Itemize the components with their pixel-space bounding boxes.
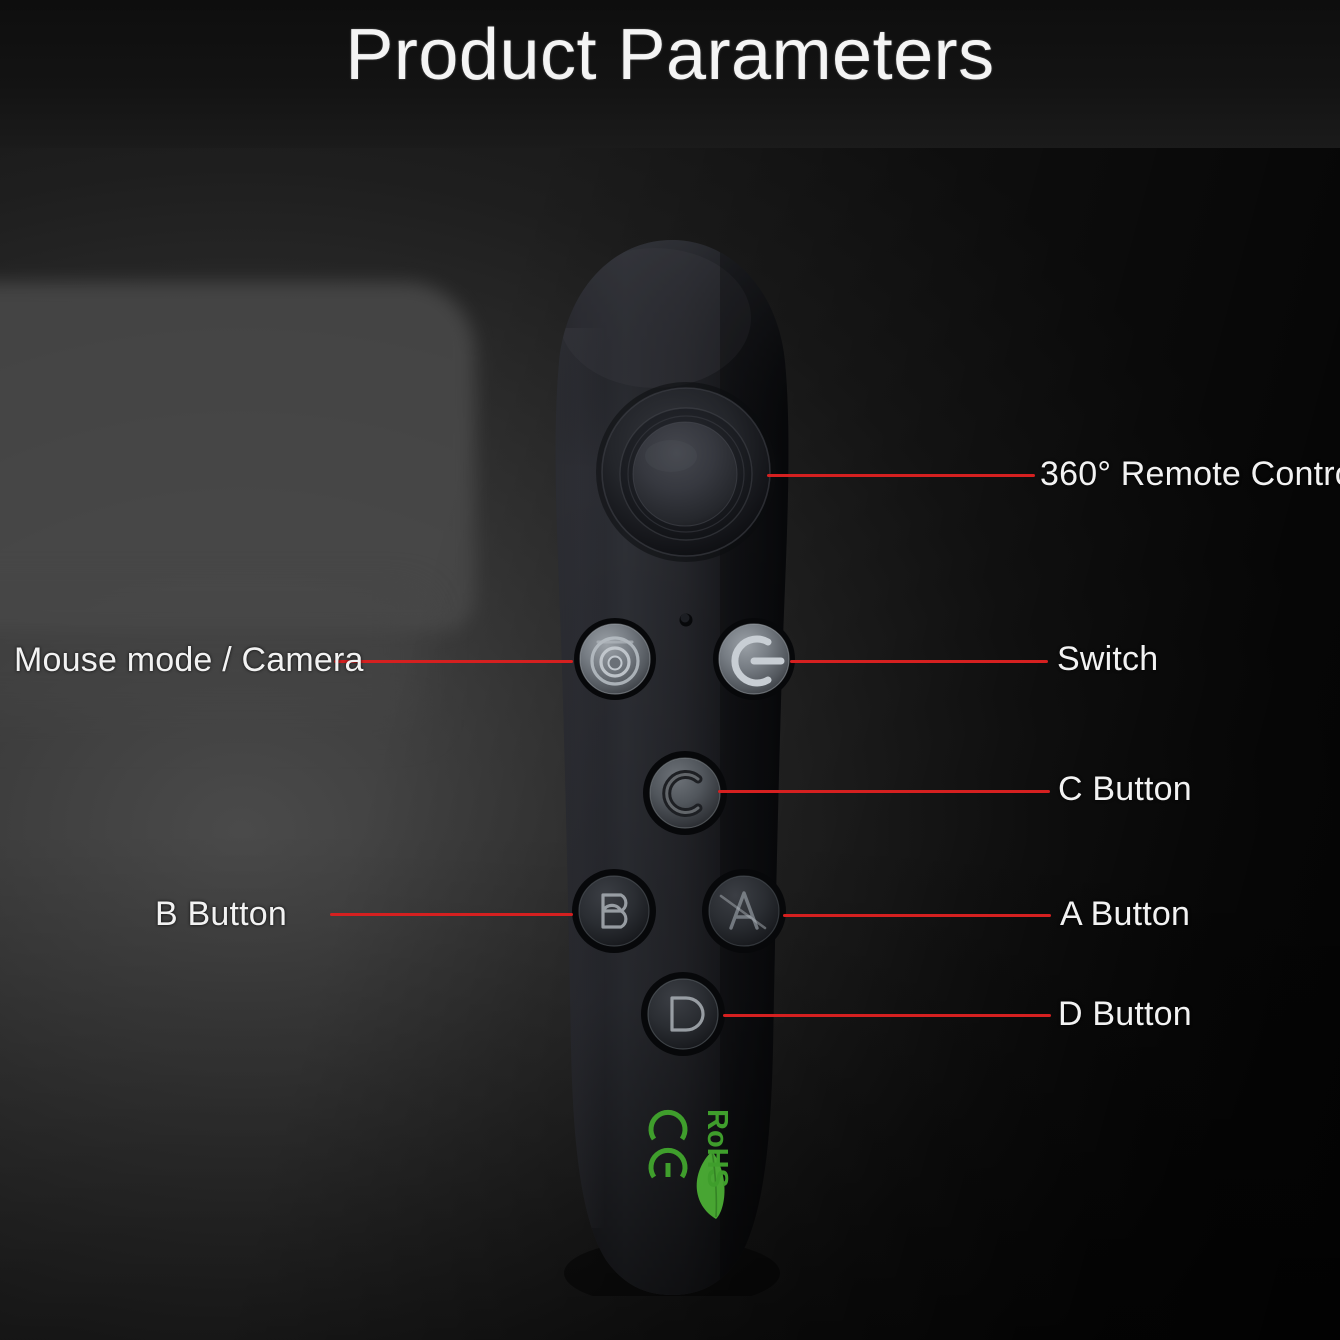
leader-line-a-button — [783, 914, 1051, 917]
letter-d-icon — [641, 972, 725, 1056]
power-icon — [713, 618, 795, 700]
callout-label-a-button: A Button — [1060, 895, 1190, 934]
leader-line-b-button — [330, 913, 573, 916]
leader-line-d-button — [723, 1014, 1051, 1017]
callout-label-d-button: D Button — [1058, 995, 1192, 1034]
joystick-icon — [596, 382, 776, 562]
leader-line-switch — [790, 660, 1048, 663]
callout-label-c-button: C Button — [1058, 770, 1192, 809]
letter-b-icon — [572, 869, 656, 953]
remote-controller-image: RoHS — [535, 238, 810, 1296]
leader-line-mouse-mode-camera — [334, 660, 573, 663]
page-title: Product Parameters — [0, 18, 1340, 94]
svg-text:RoHS: RoHS — [701, 1109, 733, 1188]
callout-label-remote-control: 360° Remote Control — [1040, 455, 1340, 494]
letter-c-icon — [643, 751, 727, 835]
leader-line-remote-control — [767, 474, 1035, 477]
letter-a-icon — [702, 869, 786, 953]
callout-label-mouse-mode-camera: Mouse mode / Camera — [14, 641, 364, 680]
camera-icon — [574, 618, 656, 700]
leader-line-c-button — [718, 790, 1050, 793]
product-parameters-diagram: Product Parameters — [0, 0, 1340, 1340]
callout-label-switch: Switch — [1057, 640, 1158, 679]
callout-label-b-button: B Button — [155, 895, 287, 934]
